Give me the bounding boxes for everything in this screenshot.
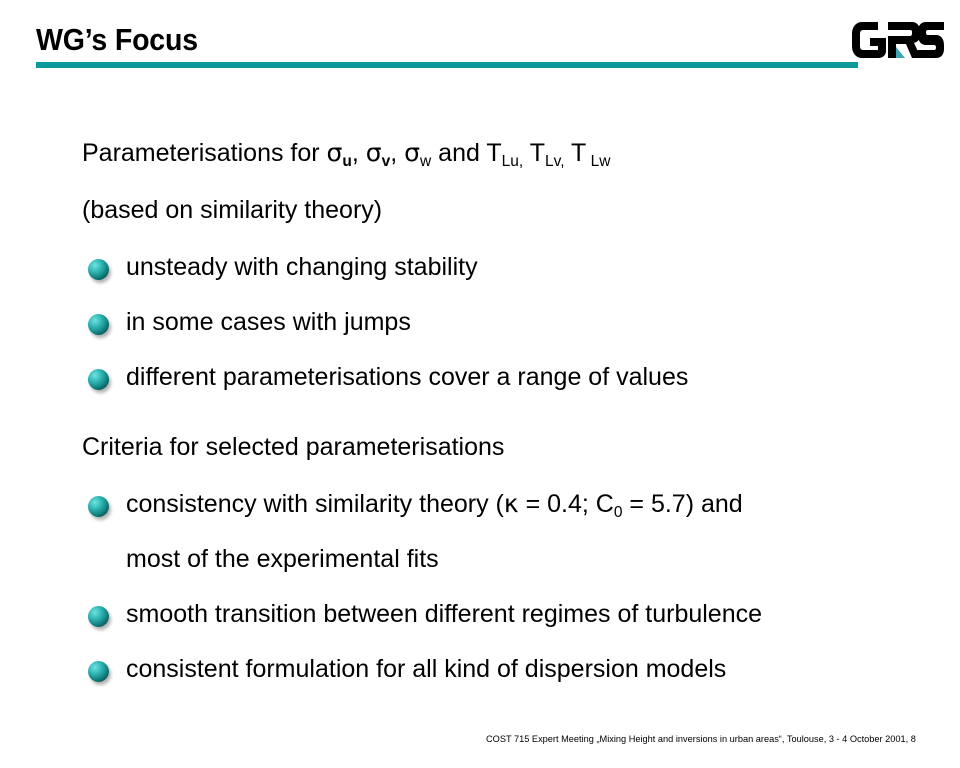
t-lw-symbol: T — [571, 139, 586, 167]
bullet-dot-icon — [88, 259, 109, 280]
c0-subscript: 0 — [614, 504, 623, 521]
list-item: consistency with similarity theory (κ = … — [126, 489, 743, 519]
t-lv-symbol: T — [530, 139, 545, 167]
list-item: different parameterisations cover a rang… — [126, 362, 688, 392]
sigma-w-symbol: σ — [404, 138, 420, 167]
c0-value-suffix: = 5.7) and — [622, 490, 742, 518]
sigma-u-symbol: σ — [327, 138, 343, 167]
bullet-dot-icon — [88, 661, 109, 682]
list-item: consistent formulation for all kind of d… — [126, 654, 726, 684]
consistency-prefix: consistency with similarity theory ( — [126, 490, 504, 518]
t-lu-subscript: Lu, — [502, 153, 524, 170]
bullet-dot-icon — [88, 369, 109, 390]
separator-2: , — [390, 139, 404, 167]
kappa-symbol: κ — [504, 489, 519, 518]
heading-parameterisations: Parameterisations for σu, σv, σw and TLu… — [82, 138, 610, 168]
sigma-u-subscript: u — [342, 153, 351, 170]
bullet-dot-icon — [88, 496, 109, 517]
t-lw-subscript: Lw — [586, 153, 610, 170]
list-item: smooth transition between different regi… — [126, 599, 762, 629]
t-lv-subscript: Lv, — [545, 153, 565, 170]
list-item: in some cases with jumps — [126, 307, 411, 337]
kappa-value-and-c0-prefix: = 0.4; C — [519, 490, 614, 518]
sigma-v-subscript: v — [382, 153, 391, 170]
list-item: unsteady with changing stability — [126, 252, 478, 282]
separator-1: , — [352, 139, 366, 167]
sigma-w-subscript: w — [420, 153, 431, 170]
slide: WG’s Focus Parameterisations for σu, σv,… — [0, 0, 960, 768]
sigma-v-symbol: σ — [366, 138, 382, 167]
heading-criteria-for-selected-parameterisations: Criteria for selected parameterisations — [82, 432, 504, 462]
heading-prefix: Parameterisations for — [82, 139, 327, 167]
list-item-continuation: most of the experimental fits — [126, 544, 439, 574]
heading-mid-and: and — [431, 139, 486, 167]
slide-body: Parameterisations for σu, σv, σw and TLu… — [0, 0, 960, 768]
slide-footer: COST 715 Expert Meeting „Mixing Height a… — [486, 734, 916, 746]
t-lu-symbol: T — [486, 139, 501, 167]
heading-based-on-similarity-theory: (based on similarity theory) — [82, 195, 382, 225]
bullet-dot-icon — [88, 314, 109, 335]
bullet-dot-icon — [88, 606, 109, 627]
